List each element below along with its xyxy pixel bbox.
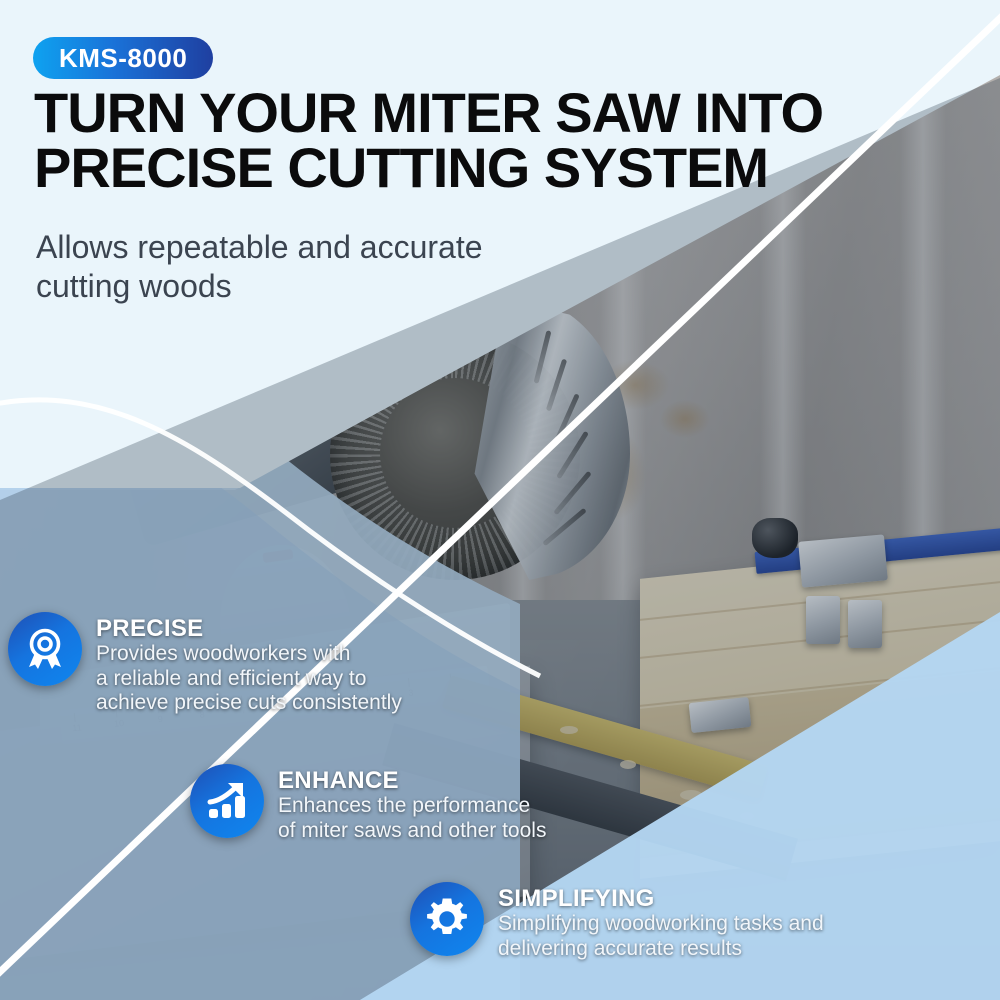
feature-simplifying-desc-line-1: Simplifying woodworking tasks and [498,912,824,936]
feature-precise-desc-line-3: achieve precise cuts consistently [96,691,402,715]
feature-precise-desc-line-2: a reliable and efficient way to [96,667,402,691]
feature-simplifying-desc-line-2: delivering accurate results [498,937,824,961]
feature-precise-desc-line-1: Provides woodworkers with [96,642,402,666]
feature-simplifying: SIMPLIFYING Simplifying woodworking task… [410,882,824,961]
poster-canvas: 11 10 9 8 7 6 5 4 3 2 [0,0,1000,1000]
gear-icon-circle [410,882,484,956]
feature-precise-text: PRECISE Provides woodworkers with a reli… [96,612,402,715]
feature-enhance-title: ENHANCE [278,768,546,793]
feature-enhance-desc: Enhances the performance of miter saws a… [278,794,546,843]
gear-icon [423,895,471,943]
subheading: Allows repeatable and accurate cutting w… [36,228,636,306]
page-title: TURN YOUR MITER SAW INTO PRECISE CUTTING… [34,86,914,196]
growth-chart-icon [203,777,251,825]
feature-enhance-text: ENHANCE Enhances the performance of mite… [278,764,546,843]
headline-line-1: TURN YOUR MITER SAW INTO [34,86,914,141]
feature-precise: PRECISE Provides woodworkers with a reli… [8,612,402,715]
feature-simplifying-title: SIMPLIFYING [498,886,824,911]
model-badge: KMS-8000 [33,37,213,79]
feature-enhance: ENHANCE Enhances the performance of mite… [190,764,546,843]
award-medal-icon-circle [8,612,82,686]
feature-simplifying-text: SIMPLIFYING Simplifying woodworking task… [498,882,824,961]
feature-enhance-desc-line-1: Enhances the performance [278,794,546,818]
growth-chart-icon-circle [190,764,264,838]
subhead-line-1: Allows repeatable and accurate [36,228,636,267]
feature-simplifying-desc: Simplifying woodworking tasks and delive… [498,912,824,961]
feature-enhance-desc-line-2: of miter saws and other tools [278,819,546,843]
feature-precise-title: PRECISE [96,616,402,641]
feature-precise-desc: Provides woodworkers with a reliable and… [96,642,402,715]
subhead-line-2: cutting woods [36,267,636,306]
award-medal-icon [21,625,69,673]
headline-line-2: PRECISE CUTTING SYSTEM [34,141,914,196]
